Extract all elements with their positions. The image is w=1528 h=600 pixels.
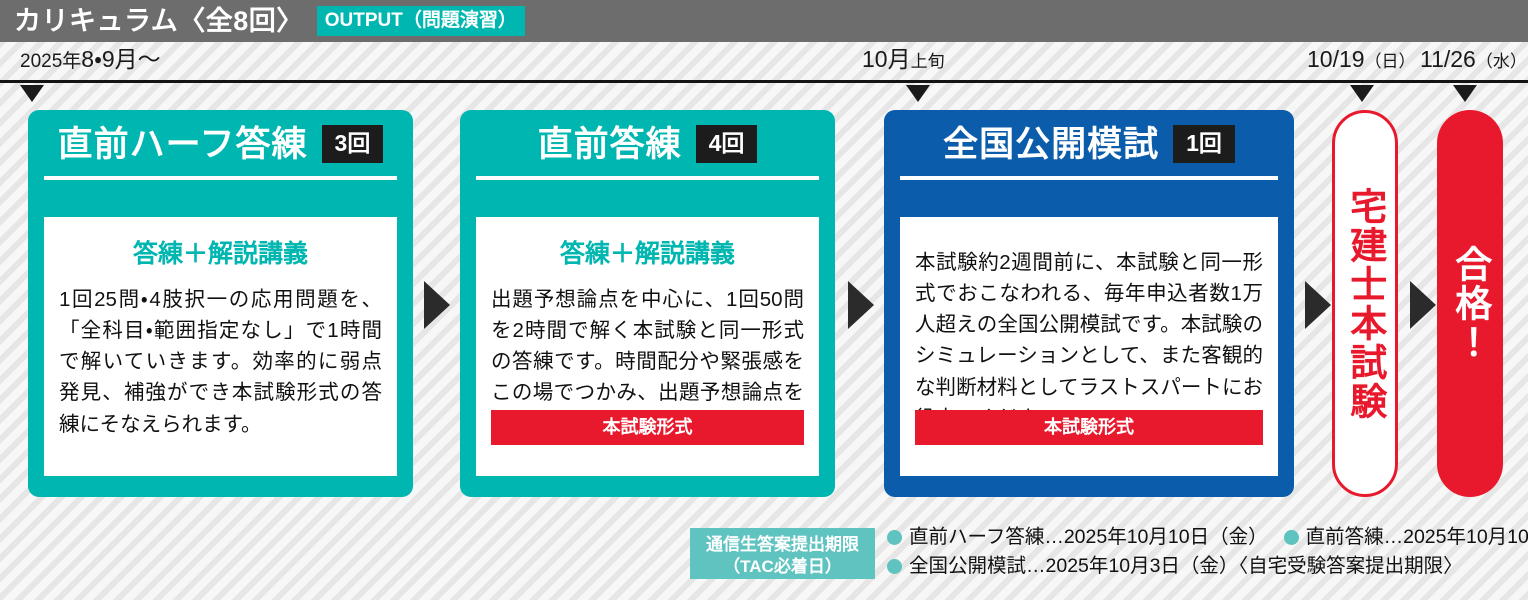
footer-legend: 通信生答案提出期限 （TAC必着日） 直前ハーフ答練…2025年10月10日（金… bbox=[690, 528, 1520, 586]
course-card-count-badge: 4回 bbox=[696, 125, 758, 163]
course-card-count-badge: 1回 bbox=[1173, 125, 1235, 163]
timeline-tick-label: 2025年8・9月～ bbox=[20, 45, 161, 74]
course-card-subtitle: 答練＋解説講義 bbox=[491, 242, 804, 267]
course-card-title: 全国公開模試 bbox=[943, 127, 1159, 162]
timeline-tick-sub: （日） bbox=[1365, 52, 1416, 71]
output-badge: OUTPUT（問題演習） bbox=[317, 6, 525, 36]
timeline-tick-sub: 8・9月～ bbox=[81, 46, 160, 72]
course-card-header: 直前答練4回 bbox=[460, 110, 835, 170]
timeline-marker-icon bbox=[1350, 85, 1374, 102]
course-card-subtitle: 答練＋解説講義 bbox=[59, 242, 382, 267]
legend-list: 直前ハーフ答練…2025年10月10日（金）直前答練…2025年10月10日（金… bbox=[887, 528, 1528, 585]
timeline-tick-main: 2025年 bbox=[20, 51, 81, 72]
timeline-marker-icon bbox=[906, 85, 930, 102]
timeline-tick-label: 10月上旬 bbox=[862, 45, 945, 74]
flow-arrow-icon bbox=[1410, 281, 1436, 329]
curriculum-infographic: カリキュラム〈全8回〉 OUTPUT（問題演習） 2025年8・9月～10月上旬… bbox=[0, 0, 1528, 600]
legend-row: 全国公開模試…2025年10月3日（金）〈自宅受験答案提出期限〉 bbox=[887, 557, 1528, 577]
timeline-marker-icon bbox=[1453, 85, 1477, 102]
timeline-tick-main: 10/19 bbox=[1307, 46, 1365, 72]
deadline-badge: 通信生答案提出期限 （TAC必着日） bbox=[690, 528, 875, 579]
course-card-description: 1回25問・4肢択一の応用問題を、「全科目・範囲指定なし」で1時間で解いていきま… bbox=[59, 284, 382, 440]
milestone-pill-goukaku[interactable]: 合格！ bbox=[1437, 110, 1503, 497]
flow-arrow-icon bbox=[1305, 281, 1331, 329]
course-card-header: 直前ハーフ答練3回 bbox=[28, 110, 413, 170]
course-card-divider bbox=[44, 176, 397, 180]
flow-arrow-icon bbox=[848, 281, 874, 329]
timeline-tick-label: 11/26（水） bbox=[1420, 45, 1527, 74]
page-title: カリキュラム〈全8回〉 bbox=[14, 8, 304, 35]
course-card-title: 直前答練 bbox=[538, 127, 682, 162]
course-card-count-badge: 3回 bbox=[322, 125, 384, 163]
timeline-tick-main: 10月 bbox=[862, 46, 911, 72]
course-card-body: 答練＋解説講義1回25問・4肢択一の応用問題を、「全科目・範囲指定なし」で1時間… bbox=[44, 217, 397, 476]
deadline-badge-line2: （TAC必着日） bbox=[690, 556, 875, 578]
timeline-tick-label: 10/19（日） bbox=[1307, 45, 1416, 74]
course-card-chokuzen-tourren[interactable]: 直前答練4回答練＋解説講義出題予想論点を中心に、1回50問を2時間で解く本試験と… bbox=[460, 110, 835, 497]
milestone-pill-label: 合格！ bbox=[1449, 245, 1490, 362]
course-card-header: 全国公開模試1回 bbox=[884, 110, 1294, 170]
legend-row: 直前ハーフ答練…2025年10月10日（金）直前答練…2025年10月10日（金… bbox=[887, 528, 1528, 548]
deadline-badge-line1: 通信生答案提出期限 bbox=[690, 534, 875, 556]
legend-item: 直前ハーフ答練…2025年10月10日（金） bbox=[887, 528, 1268, 548]
header-bar: カリキュラム〈全8回〉 OUTPUT（問題演習） bbox=[0, 0, 1528, 42]
milestone-pill-takken-honshiken[interactable]: 宅建士本試験 bbox=[1332, 110, 1398, 497]
legend-bullet-icon bbox=[1284, 530, 1299, 545]
legend-item-label: 直前ハーフ答練…2025年10月10日（金） bbox=[909, 528, 1268, 548]
legend-item-label: 直前答練…2025年10月10日（金） bbox=[1306, 528, 1528, 548]
course-card-title: 直前ハーフ答練 bbox=[58, 127, 308, 162]
legend-bullet-icon bbox=[887, 530, 902, 545]
timeline-tick-sub: 上旬 bbox=[911, 52, 945, 71]
course-card-chokuzen-half-tourren[interactable]: 直前ハーフ答練3回答練＋解説講義1回25問・4肢択一の応用問題を、「全科目・範囲… bbox=[28, 110, 413, 497]
milestone-pill-label: 宅建士本試験 bbox=[1344, 187, 1385, 421]
exam-format-tag: 本試験形式 bbox=[915, 410, 1263, 445]
legend-item-label: 全国公開模試…2025年10月3日（金）〈自宅受験答案提出期限〉 bbox=[909, 557, 1463, 577]
exam-format-tag: 本試験形式 bbox=[491, 410, 804, 445]
timeline-ruler: 2025年8・9月～10月上旬10/19（日）11/26（水） bbox=[0, 42, 1528, 80]
legend-item: 直前答練…2025年10月10日（金） bbox=[1284, 528, 1528, 548]
course-card-divider bbox=[476, 176, 819, 180]
timeline-axis-line bbox=[0, 80, 1528, 83]
timeline-tick-sub: （水） bbox=[1476, 52, 1527, 71]
legend-item: 全国公開模試…2025年10月3日（金）〈自宅受験答案提出期限〉 bbox=[887, 557, 1463, 577]
course-card-divider bbox=[900, 176, 1278, 180]
course-card-description: 本試験約2週間前に、本試験と同一形式でおこなわれる、毎年申込者数1万人超えの全国… bbox=[915, 247, 1263, 434]
timeline-tick-main: 11/26 bbox=[1420, 46, 1476, 72]
course-card-zenkoku-koukai-moshi[interactable]: 全国公開模試1回本試験約2週間前に、本試験と同一形式でおこなわれる、毎年申込者数… bbox=[884, 110, 1294, 497]
timeline-marker-icon bbox=[20, 85, 44, 102]
flow-arrow-icon bbox=[424, 281, 450, 329]
legend-bullet-icon bbox=[887, 559, 902, 574]
